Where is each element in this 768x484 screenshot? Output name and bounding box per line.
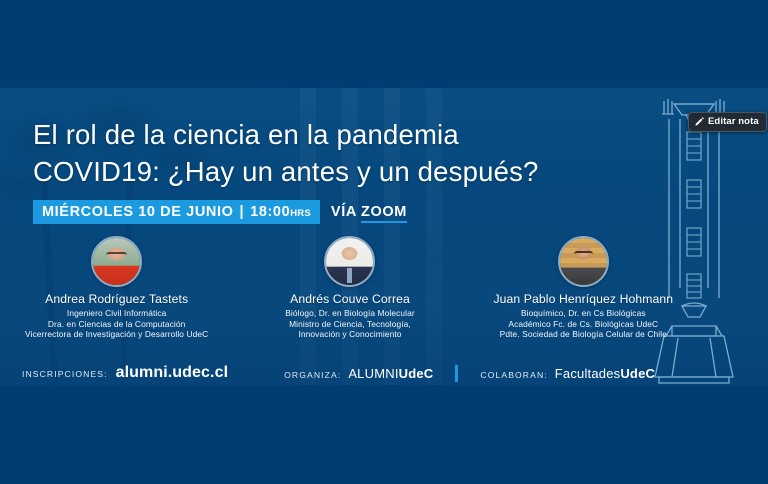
event-date: MIÉRCOLES 10 DE JUNIO — [42, 204, 233, 220]
speaker-name: Andrea Rodríguez Tastets — [9, 292, 225, 306]
speaker-credential: Ministro de Ciencia, Tecnología, — [242, 319, 458, 330]
date-time-separator: | — [233, 204, 250, 220]
event-time: 18:00 — [250, 204, 290, 220]
edit-note-label: Editar nota — [708, 116, 759, 127]
speaker-credential: Innovación y Conocimiento — [242, 329, 458, 340]
banner-headline: El rol de la ciencia en la pandemia COVI… — [33, 116, 653, 190]
speaker-credential: Bioquímico, Dr. en Cs Biológicas — [475, 308, 691, 319]
speaker-credential: Pdte. Sociedad de Biología Celular de Ch… — [475, 329, 691, 340]
organiza-label: ORGANIZA: — [284, 370, 341, 380]
speaker-photo-andrea — [91, 236, 142, 287]
inscriptions-label: INSCRIPCIONES: — [22, 369, 108, 379]
channel-name: ZOOM — [361, 204, 407, 223]
colaboran-label: COLABORAN: — [480, 370, 547, 380]
edit-note-button[interactable]: Editar nota — [688, 112, 767, 132]
date-time-chip: MIÉRCOLES 10 DE JUNIO | 18:00 HRS — [33, 200, 320, 224]
speaker-name: Juan Pablo Henríquez Hohmann — [475, 292, 691, 306]
event-banner: El rol de la ciencia en la pandemia COVI… — [0, 88, 768, 385]
facultades-udec-logo: FacultadesUdeC — [555, 366, 655, 381]
facultades-wordmark: Facultades — [555, 366, 621, 381]
speaker-credential: Ingeniero Civil Informática — [9, 308, 225, 319]
speaker-credential: Dra. en Ciencias de la Computación — [9, 319, 225, 330]
colaboran-group: COLABORAN: FacultadesUdeC — [480, 366, 655, 381]
speaker-credential: Biólogo, Dr. en Biología Molecular — [242, 308, 458, 319]
udec-wordmark: UdeC — [620, 366, 655, 381]
channel-prefix: VÍA — [331, 204, 361, 220]
event-time-unit: HRS — [290, 208, 311, 219]
headline-line-1: El rol de la ciencia en la pandemia — [33, 119, 459, 150]
speakers-row: Andrea Rodríguez Tastets Ingeniero Civil… — [0, 236, 700, 340]
speaker-credential: Académico Fc. de Cs. Biológicas UdeC — [475, 319, 691, 330]
speaker-photo-juanpablo — [558, 236, 609, 287]
speaker-card: Andrés Couve Correa Biólogo, Dr. en Biol… — [242, 236, 458, 340]
alumni-wordmark: ALUMNI — [348, 366, 398, 381]
event-channel: VÍA ZOOM — [331, 204, 407, 220]
headline-line-2: COVID19: ¿Hay un antes y un después? — [33, 153, 653, 190]
event-date-strip: MIÉRCOLES 10 DE JUNIO | 18:00 HRS VÍA ZO… — [33, 200, 407, 224]
speaker-photo-andres — [324, 236, 375, 287]
inscriptions-group: INSCRIPCIONES: alumni.udec.cl — [22, 364, 228, 382]
page-background: El rol de la ciencia en la pandemia COVI… — [0, 0, 768, 484]
speaker-card: Juan Pablo Henríquez Hohmann Bioquímico,… — [475, 236, 691, 340]
speaker-card: Andrea Rodríguez Tastets Ingeniero Civil… — [9, 236, 225, 340]
speaker-name: Andrés Couve Correa — [242, 292, 458, 306]
banner-footer: INSCRIPCIONES: alumni.udec.cl ORGANIZA: … — [0, 360, 700, 385]
inscriptions-url: alumni.udec.cl — [116, 364, 229, 382]
pencil-icon — [695, 117, 704, 126]
udec-wordmark: UdeC — [399, 366, 434, 381]
speaker-credential: Vicerrectora de Investigación y Desarrol… — [9, 329, 225, 340]
organiza-group: ORGANIZA: ALUMNIUdeC — [284, 366, 433, 381]
alumni-udec-logo: ALUMNIUdeC — [348, 366, 433, 381]
footer-divider — [455, 365, 458, 382]
